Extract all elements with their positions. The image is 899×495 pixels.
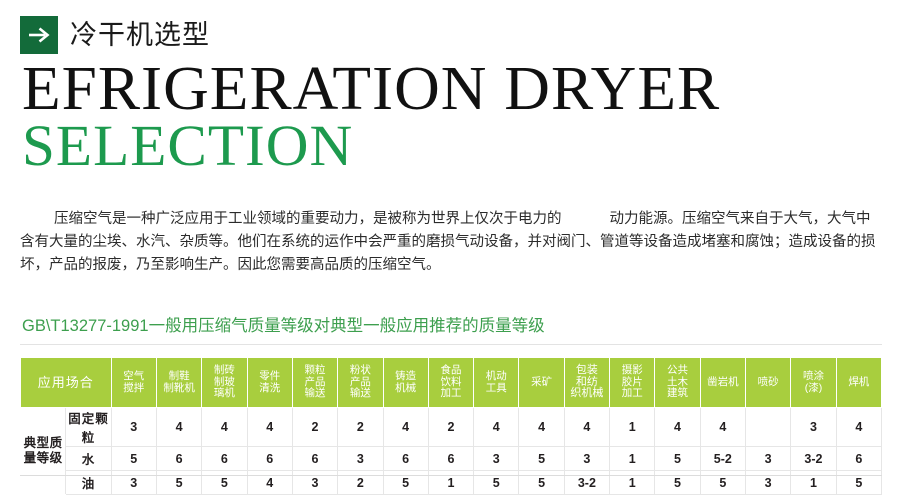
table-cell: 3 [746, 447, 791, 471]
table-column-header: 铸造机械 [383, 358, 428, 408]
hdr-line-1: 喷涂 [791, 371, 835, 383]
table-cell: 4 [655, 408, 700, 447]
table-cell: 5-2 [700, 447, 745, 471]
hdr-line-1: 铸造 [384, 371, 428, 383]
table-column-header: 空气搅拌 [111, 358, 156, 408]
table-column-header: 公共土木建筑 [655, 358, 700, 408]
headline-primary: EFRIGERATION DRYER [22, 60, 720, 118]
table-cell: 2 [428, 408, 473, 447]
intro-segment-3: 含有大量的尘埃、水汽、杂质等。他们在系统的运作中会严重的磨损气动设备，并对阀门、… [20, 234, 861, 250]
hdr-line-2: 制靴机 [157, 383, 201, 395]
table-cell: 1 [610, 447, 655, 471]
table-cell: 3 [111, 408, 156, 447]
table-column-header: 零件清洗 [247, 358, 292, 408]
headline-secondary: SELECTION [22, 118, 720, 174]
hdr-line-3: 璃机 [202, 388, 246, 400]
hdr-line-3: 织机械 [565, 388, 609, 400]
table-corner-label: 应用场合 [21, 358, 112, 408]
row-label: 固定颗粒 [66, 408, 111, 447]
table-cell: 5 [519, 447, 564, 471]
standard-heading-rule [20, 344, 882, 345]
hdr-line-1: 制鞋 [157, 371, 201, 383]
table-cell: 4 [836, 408, 881, 447]
table-cell: 3 [338, 447, 383, 471]
arrow-right-icon [20, 16, 58, 54]
hdr-line-3: 加工 [429, 388, 473, 400]
hdr-line-1: 机动 [474, 371, 518, 383]
table-column-header: 食品饮料加工 [428, 358, 473, 408]
table-cell: 5 [655, 447, 700, 471]
row-group-label-line-1: 典型质 [21, 436, 65, 451]
table-header: 应用场合 空气搅拌 制鞋制靴机 制砖制玻璃机 零件清洗 颗粒产品输送 粉状产品输… [21, 358, 882, 408]
hdr-line-2: 工具 [474, 383, 518, 395]
table-cell: 4 [564, 408, 609, 447]
hdr-line-2: 机械 [384, 383, 428, 395]
section-eyebrow-title: 冷干机选型 [70, 22, 210, 49]
hdr-line-1: 空气 [112, 371, 156, 383]
hdr-line-1: 凿岩机 [701, 377, 745, 389]
table-column-header: 采矿 [519, 358, 564, 408]
table-row: 典型质量等级 固定颗粒 3 4 4 4 2 2 4 2 4 4 4 1 4 4 … [21, 408, 882, 447]
table-column-header: 制鞋制靴机 [156, 358, 201, 408]
table-cell: 3 [791, 408, 836, 447]
table-column-header: 包装和纺织机械 [564, 358, 609, 408]
hdr-line-1: 采矿 [519, 377, 563, 389]
table-column-header: 喷砂 [746, 358, 791, 408]
hdr-line-2: (漆) [791, 383, 835, 395]
table-body: 典型质量等级 固定颗粒 3 4 4 4 2 2 4 2 4 4 4 1 4 4 … [21, 408, 882, 495]
table-cell: 6 [836, 447, 881, 471]
table-cell: 3 [564, 447, 609, 471]
table-cell: 6 [156, 447, 201, 471]
table-column-header: 凿岩机 [700, 358, 745, 408]
table-row: 水 5 6 6 6 6 3 6 6 3 5 3 1 5 5-2 3 3-2 6 [21, 447, 882, 471]
hdr-line-3: 加工 [610, 388, 654, 400]
table-cell: 4 [202, 408, 247, 447]
table-cell: 5 [111, 447, 156, 471]
hdr-line-3: 输送 [293, 388, 337, 400]
table-column-header: 制砖制玻璃机 [202, 358, 247, 408]
table-cell: 6 [292, 447, 337, 471]
table-cell: 6 [428, 447, 473, 471]
row-group-label-line-2: 量等级 [21, 451, 65, 466]
table-cell: 6 [247, 447, 292, 471]
row-label: 水 [66, 447, 111, 471]
table-cell: 2 [338, 408, 383, 447]
hdr-line-2: 搅拌 [112, 383, 156, 395]
hdr-line-3: 输送 [338, 388, 382, 400]
table-column-header: 机动工具 [474, 358, 519, 408]
table-cell: 4 [383, 408, 428, 447]
table-column-header: 喷涂(漆) [791, 358, 836, 408]
hdr-line-1: 喷砂 [746, 377, 790, 389]
hdr-line-2: 清洗 [248, 383, 292, 395]
table-cell: 3 [474, 447, 519, 471]
table-cell: 6 [202, 447, 247, 471]
table-cell [746, 408, 791, 447]
row-group-label: 典型质量等级 [21, 408, 66, 495]
intro-paragraph: 压缩空气是一种广泛应用于工业领域的重要动力，是被称为世界上仅次于电力的动力能源。… [20, 208, 882, 277]
table-cell: 1 [610, 408, 655, 447]
table-column-header: 颗粒产品输送 [292, 358, 337, 408]
table-cell: 4 [156, 408, 201, 447]
table-cell: 4 [519, 408, 564, 447]
section-eyebrow: 冷干机选型 [20, 16, 210, 54]
page-headline: EFRIGERATION DRYER SELECTION [22, 60, 707, 174]
hdr-line-1: 焊机 [837, 377, 881, 389]
intro-segment-1: 压缩空气是一种广泛应用于工业领域的重要动力，是被称为世界上仅次于电力的 [54, 211, 562, 227]
table-header-row: 应用场合 空气搅拌 制鞋制靴机 制砖制玻璃机 零件清洗 颗粒产品输送 粉状产品输… [21, 358, 882, 408]
table-cell: 3-2 [791, 447, 836, 471]
table-column-header: 摄影胶片加工 [610, 358, 655, 408]
table-column-header: 粉状产品输送 [338, 358, 383, 408]
table-bottom-rule [20, 475, 882, 476]
table-cell: 4 [474, 408, 519, 447]
table-cell: 4 [247, 408, 292, 447]
standard-heading: GB\T13277-1991一般用压缩气质量等级对典型一般应用推荐的质量等级 [22, 318, 545, 335]
table-column-header: 焊机 [836, 358, 881, 408]
table-cell: 2 [292, 408, 337, 447]
hdr-line-1: 零件 [248, 371, 292, 383]
hdr-line-3: 建筑 [655, 388, 699, 400]
table-cell: 4 [700, 408, 745, 447]
table-cell: 6 [383, 447, 428, 471]
intro-segment-2: 动力能源。压缩空气来自于大气，大气中 [610, 211, 871, 227]
